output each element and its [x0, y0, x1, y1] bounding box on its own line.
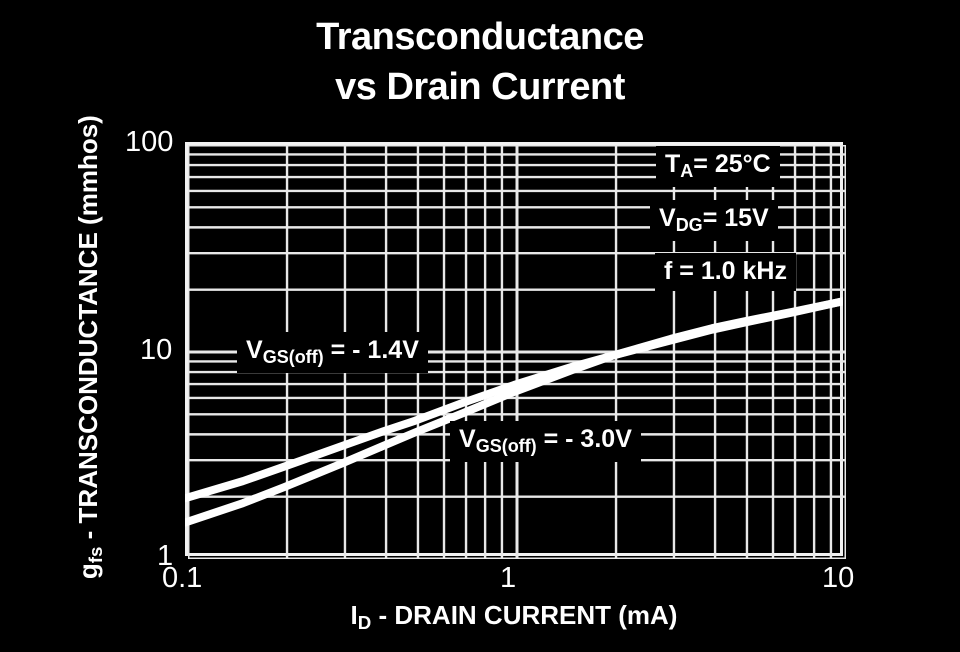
temperature-value: = 25°C — [693, 150, 770, 178]
y-axis-label: gfs - TRANSCONDUCTANCE (mmhos) — [73, 87, 107, 607]
y-axis-label-sub: fs — [85, 547, 106, 564]
annotation-frequency: f = 1.0 kHz — [655, 253, 796, 291]
y-axis-label-prefix: g — [73, 563, 103, 579]
title-line-1: Transconductance — [0, 12, 960, 62]
x-tick-0-1: 0.1 — [162, 562, 202, 595]
curve2-prefix: V — [459, 425, 476, 453]
x-axis-label: ID - DRAIN CURRENT (mA) — [185, 600, 843, 634]
curve1-prefix: V — [246, 336, 263, 364]
voltage-value: = 15V — [703, 204, 769, 232]
annotation-temperature: TA= 25°C — [656, 146, 780, 187]
chart-page: Transconductance vs Drain Current 100 10… — [0, 0, 960, 652]
curve2-value: = - 3.0V — [537, 425, 632, 453]
curve2-sub: GS(off) — [476, 436, 537, 456]
y-axis-label-rest: - TRANSCONDUCTANCE (mmhos) — [73, 115, 103, 546]
x-tick-1: 1 — [500, 562, 516, 595]
voltage-prefix: V — [659, 204, 676, 232]
y-tick-10: 10 — [140, 334, 172, 367]
x-axis-label-sub: D — [358, 612, 372, 633]
temperature-sub: A — [680, 161, 693, 181]
x-axis-label-prefix: I — [351, 600, 358, 630]
annotation-voltage: VDG= 15V — [650, 200, 778, 241]
x-tick-10: 10 — [822, 562, 854, 595]
page-title: Transconductance vs Drain Current — [0, 12, 960, 112]
temperature-prefix: T — [665, 150, 680, 178]
x-axis-label-rest: - DRAIN CURRENT (mA) — [371, 600, 677, 630]
y-tick-100: 100 — [125, 126, 173, 159]
voltage-sub: DG — [676, 215, 703, 235]
title-line-2: vs Drain Current — [0, 62, 960, 112]
curve1-value: = - 1.4V — [324, 336, 419, 364]
annotation-curve-2: VGS(off) = - 3.0V — [450, 421, 641, 462]
annotation-curve-1: VGS(off) = - 1.4V — [237, 332, 428, 373]
curve1-sub: GS(off) — [263, 347, 324, 367]
